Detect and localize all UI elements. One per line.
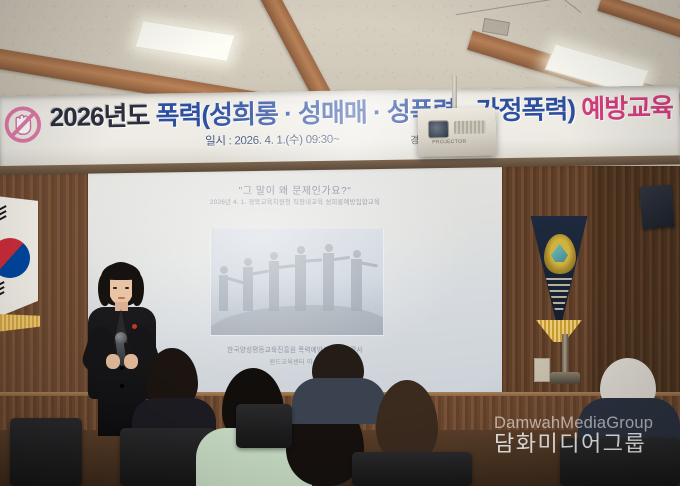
projector-label: PROJECTOR [432, 139, 466, 146]
silhouette-figure [243, 267, 253, 311]
organization-flag-text [542, 276, 576, 310]
stop-hand-prohibition-icon [2, 103, 45, 146]
organization-flag-fringe [536, 320, 582, 342]
presenter-hair-side-right [132, 274, 144, 306]
banner-main-text: 폭력(성희롱 · 성매매 · 성폭력 · 가정폭력) [155, 94, 575, 131]
silhouette-figure [351, 259, 362, 311]
chair [560, 438, 680, 486]
projector-mount [452, 76, 457, 110]
banner-datetime: 일시 : 2026. 4. 1.(수) 09:30~ [205, 131, 339, 149]
chair [236, 404, 292, 448]
banner-headline: 2026년도 폭력(성희롱 · 성매매 · 성폭력 · 가정폭력) 예방교육 [50, 91, 674, 133]
silhouette-figure [219, 275, 228, 311]
photo-scene: "그 말이 왜 문제인가요?" 2026년 4. 1. 경북교육지원청 직장내교… [0, 0, 680, 486]
presenter-lapel-pin [132, 324, 137, 329]
wall-speaker [639, 185, 675, 230]
banner-emphasis-text: 예방교육 [581, 92, 673, 123]
taeguk-symbol [0, 231, 37, 285]
organization-flag [520, 216, 598, 366]
slide-subtitle: 2026년 4. 1. 경북교육지원청 직장내교육 성희롱예방집합교육 [88, 197, 502, 206]
chair [10, 418, 82, 486]
ceiling-projector: PROJECTOR [418, 107, 497, 156]
silhouette-figure [269, 261, 279, 311]
slide-title: "그 말이 왜 문제인가요?" [88, 182, 502, 197]
silhouette-figure [295, 255, 306, 311]
flag-stand-base [550, 372, 580, 384]
projector-lens [428, 120, 449, 138]
slide-image [210, 228, 384, 336]
chair [352, 452, 472, 486]
banner-year: 2026년도 [50, 101, 150, 133]
audience-member-shoulders [292, 378, 386, 424]
projector-vent [454, 120, 486, 134]
national-flag-fringe [0, 314, 40, 332]
presenter-hair-side-left [98, 274, 110, 306]
presenter-neck [115, 302, 128, 311]
microphone-head [115, 332, 127, 344]
presenter-hand-left [106, 354, 120, 369]
national-flag [0, 196, 42, 338]
presenter-hand-right [124, 354, 138, 369]
national-flag-cloth [0, 196, 38, 318]
silhouette-figure [323, 253, 334, 311]
